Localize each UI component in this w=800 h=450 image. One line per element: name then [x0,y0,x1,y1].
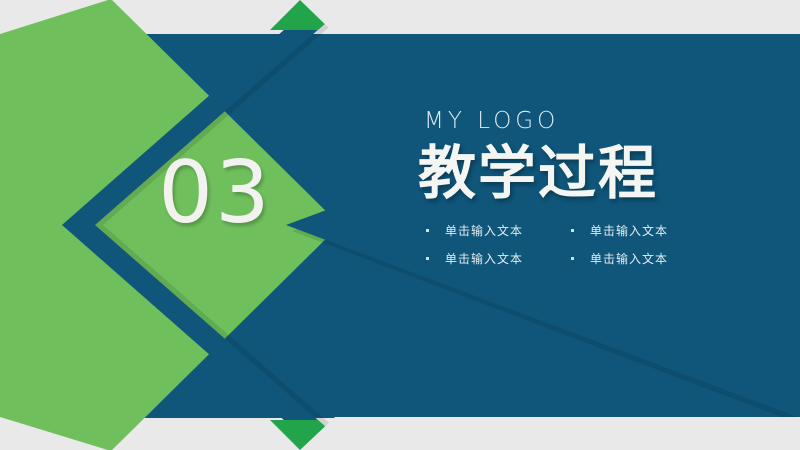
section-number: 03 [140,150,290,236]
slide-content: MY LOGO 教学过程 单击输入文本 单击输入文本 单击输入文本 单击输入文本 [418,108,748,267]
list-item: 单击输入文本 [426,222,571,239]
list-item: 单击输入文本 [571,222,716,239]
bullet-dot-icon [426,257,429,260]
presentation-slide: 03 MY LOGO 教学过程 单击输入文本 单击输入文本 单击输入文本 单击输… [0,0,800,450]
list-item-label: 单击输入文本 [445,250,523,267]
bullet-dot-icon [426,229,429,232]
logo-text: MY LOGO [424,108,748,134]
bullet-list: 单击输入文本 单击输入文本 单击输入文本 单击输入文本 [426,222,748,267]
list-item-label: 单击输入文本 [590,250,668,267]
list-item-label: 单击输入文本 [590,222,668,239]
list-item-label: 单击输入文本 [445,222,523,239]
page-title: 教学过程 [418,143,748,204]
bullet-dot-icon [571,257,574,260]
list-item: 单击输入文本 [571,250,716,267]
list-item: 单击输入文本 [426,250,571,267]
bullet-dot-icon [571,229,574,232]
